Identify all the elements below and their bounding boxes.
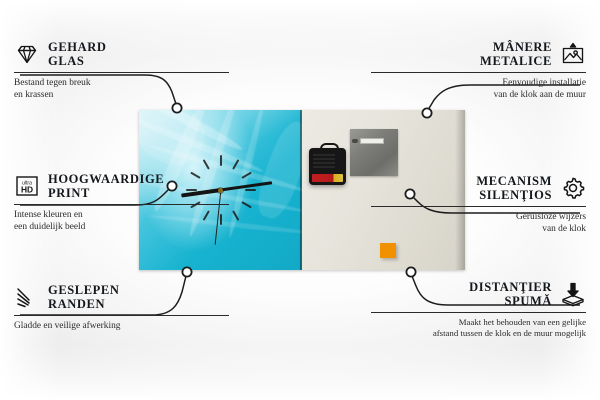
feature-gehard-glas[interactable]: GEHARD GLAS Bestand tegen breuk en krass…: [14, 40, 229, 102]
spacer-press-icon: [560, 281, 586, 307]
feature-desc-line2: afstand tussen de klok en de muur mogeli…: [433, 328, 586, 338]
feature-rule: [14, 204, 229, 205]
svg-text:HD: HD: [21, 185, 33, 195]
foam-spacer-part: [380, 243, 396, 258]
feature-title-line2: SPUMĂ: [505, 294, 552, 308]
feature-desc-line1: Maakt het behouden van een gelijke: [459, 317, 586, 327]
feature-title-line1: GEHARD: [48, 40, 106, 54]
feature-distantier-spuma[interactable]: DISTANŢIER SPUMĂ Maakt het behouden van …: [371, 280, 586, 340]
feature-desc-line1: Eenvoudige installatie: [502, 78, 586, 88]
feature-rule: [14, 72, 229, 73]
metal-hanger-part: [350, 129, 398, 176]
feature-title-line1: DISTANŢIER: [469, 280, 552, 294]
feature-desc-line1: Gladde en veilige afwerking: [14, 321, 120, 331]
feature-desc-line2: van de klok aan de muur: [494, 90, 586, 100]
feature-desc-line1: Bestand tegen breuk: [14, 78, 91, 88]
feature-desc-line1: Geruisloze wijzers: [516, 212, 586, 222]
feature-title-line2: SILENŢIOS: [479, 188, 552, 202]
feature-title-line1: MÂNERE: [493, 40, 552, 54]
feature-rule: [14, 315, 229, 316]
feature-hoogwaardige-print[interactable]: ultra HD HOOGWAARDIGE PRINT Intense kleu…: [14, 172, 229, 234]
picture-hanger-icon: [560, 41, 586, 67]
feature-mecanism-silentios[interactable]: MECANISM SILENŢIOS Geruisloze wijzers va…: [371, 174, 586, 236]
feature-rule: [371, 206, 586, 207]
feature-rule: [371, 312, 586, 313]
feature-geslepen-randen[interactable]: GESLEPEN RANDEN Gladde en veilige afwerk…: [14, 283, 229, 332]
ultra-hd-icon: ultra HD: [14, 173, 40, 199]
feature-title-line2: RANDEN: [48, 297, 105, 311]
feature-title-line2: PRINT: [48, 186, 90, 200]
feature-title-line2: METALICE: [480, 54, 552, 68]
feature-manere-metalice[interactable]: MÂNERE METALICE Eenvoudige installatie v…: [371, 40, 586, 102]
feature-desc-line2: van de klok: [542, 224, 586, 234]
feature-title-line1: HOOGWAARDIGE: [48, 172, 164, 186]
beveled-edges-icon: [14, 284, 40, 310]
gear-icon: [560, 175, 586, 201]
clock-mechanism-part: [309, 148, 346, 185]
feature-desc-line1: Intense kleuren en: [14, 210, 83, 220]
feature-title-line1: GESLEPEN: [48, 283, 120, 297]
infographic-canvas: GEHARD GLAS Bestand tegen breuk en krass…: [0, 0, 600, 400]
feature-rule: [371, 72, 586, 73]
diamond-icon: [14, 41, 40, 67]
feature-desc-line2: een duidelijk beeld: [14, 222, 85, 232]
feature-desc-line2: en krassen: [14, 90, 53, 100]
feature-title-line1: MECANISM: [476, 174, 552, 188]
feature-title-line2: GLAS: [48, 54, 84, 68]
